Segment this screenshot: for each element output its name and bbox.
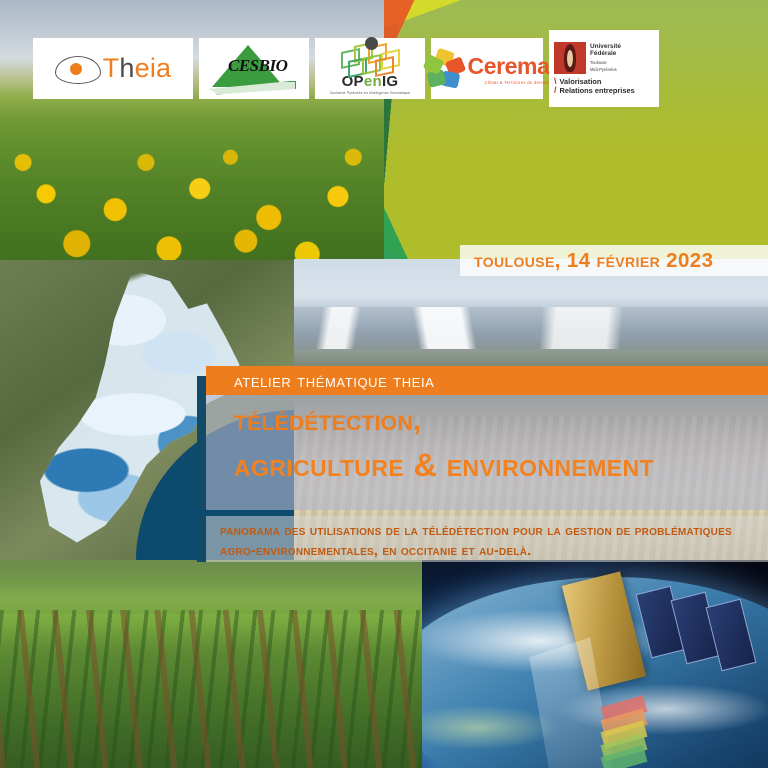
ufmip-valorisation-block: Valorisation Relations entreprises [560,77,635,96]
ufmip-lockup: Université Fédérale Toulouse Midi-Pyréné… [549,38,659,100]
title-accent-bar [197,376,206,510]
event-date-location: Toulouse, 14 février 2023 [460,249,713,273]
ufmip-line5: Valorisation [560,77,635,87]
ufmip-valorisation-row: \/ Valorisation Relations entreprises [554,77,654,96]
logo-universite-federale-toulouse-midi-pyrenees: Université Fédérale Toulouse Midi-Pyréné… [549,30,659,107]
ufmip-seal-icon [554,42,586,74]
ufmip-line6: Relations entreprises [560,86,635,96]
theia-lockup: Theia [55,53,172,84]
ufmip-line1: Université [590,43,621,51]
event-poster: Theia CESBIO OPenIG Occitanie Pyrénées e… [0,0,768,768]
photo-satellite-earth [422,560,768,768]
openig-map-pin-icon [339,42,401,72]
logo-cesbio-wordmark: CESBIO [228,56,287,76]
date-banner: Toulouse, 14 février 2023 [460,245,768,276]
page-title-line2: Agriculture & environnement [234,447,654,484]
page-title-line1: Télédétection, [234,404,422,438]
ufmip-line3: Toulouse [590,60,621,65]
workshop-label: Atelier thématique Theia [206,370,434,392]
theia-eye-icon [55,56,99,82]
logo-cerema-wordmark: Cerema [468,53,550,80]
logo-openig-tagline: Occitanie Pyrénées en Intelligence Géoma… [330,91,411,95]
subtitle-accent-bar [197,516,206,562]
logo-cerema: Cerema Climat & Territoires de demain [431,38,543,99]
openig-lockup: OPenIG Occitanie Pyrénées en Intelligenc… [330,42,411,95]
ufmip-name-block: Université Fédérale Toulouse Midi-Pyréné… [590,43,621,73]
cerema-lockup: Cerema Climat & Territoires de demain [425,50,550,88]
workshop-banner: Atelier thématique Theia [206,366,768,395]
logo-theia-wordmark: Theia [103,53,172,84]
satellite-solar-panel-icon [705,598,756,671]
ufmip-top-row: Université Fédérale Toulouse Midi-Pyréné… [554,42,654,74]
ufmip-line2: Fédérale [590,50,621,58]
logo-cerema-tagline: Climat & Territoires de demain [484,80,549,85]
ufmip-slash-icon: \/ [554,77,557,96]
cerema-star-icon [425,50,465,88]
logo-openig: OPenIG Occitanie Pyrénées en Intelligenc… [315,38,425,99]
ufmip-line4: Midi-Pyrénées [590,67,621,72]
logo-cesbio: CESBIO [199,38,309,99]
logo-theia: Theia [33,38,193,99]
page-subtitle: Panorama des utilisations de la télédéte… [220,521,768,561]
photo-crop-field [0,560,422,768]
cesbio-lockup: CESBIO [206,43,302,95]
